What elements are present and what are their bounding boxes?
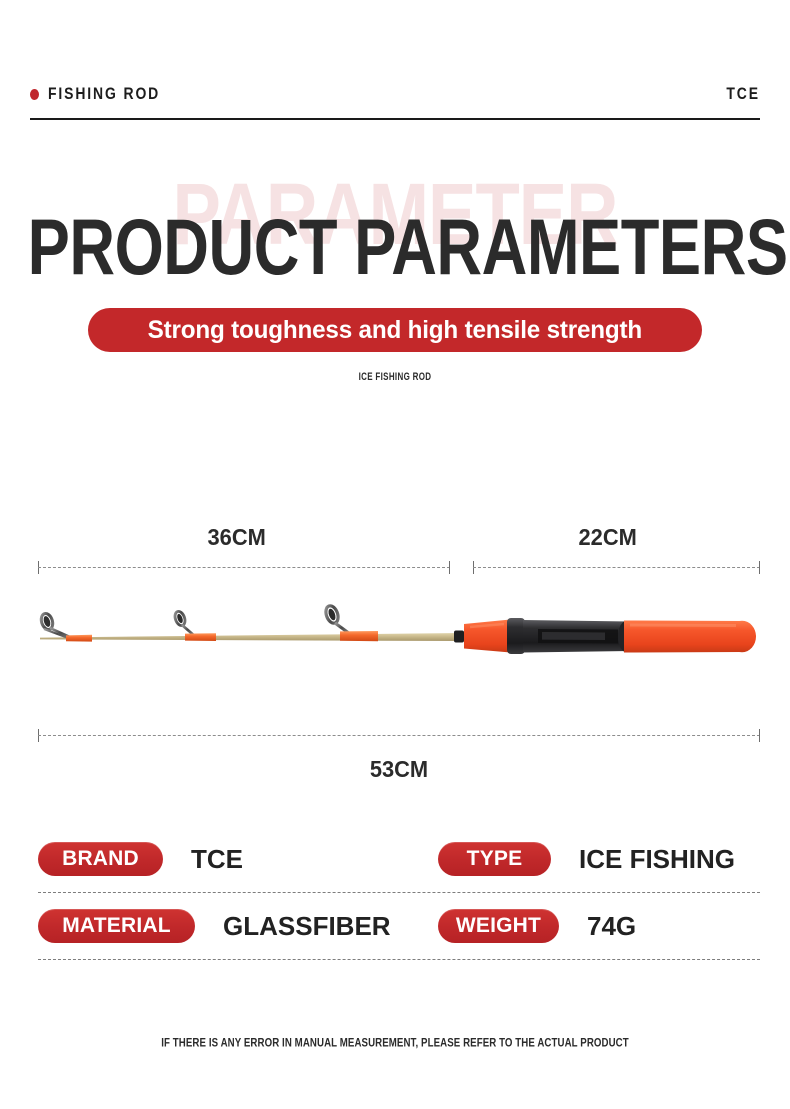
dimension-rule	[38, 735, 760, 736]
dimension-cap-right	[449, 561, 450, 574]
spec-type: TYPE ICE FISHING	[438, 842, 760, 876]
guide-wrap-middle	[185, 633, 216, 641]
rod-ferrule	[454, 631, 464, 643]
blank-length-label: 36CM	[208, 524, 266, 551]
spec-brand: BRAND TCE	[38, 842, 438, 876]
segment-measurements: 36CM 22CM	[38, 524, 760, 574]
spec-value-weight: 74G	[587, 911, 636, 942]
header-left-group: FISHING ROD	[30, 84, 185, 104]
tagline-text: Strong toughness and high tensile streng…	[148, 316, 642, 345]
reel-seat-ring	[507, 618, 525, 654]
header-category-label: FISHING ROD	[48, 84, 160, 104]
dimension-rule	[38, 567, 450, 568]
footer-note: IF THERE IS ANY ERROR IN MANUAL MEASUREM…	[47, 1037, 742, 1050]
tagline-banner: Strong toughness and high tensile streng…	[88, 308, 702, 352]
dimension-cap-right	[759, 561, 760, 574]
handle-length-label: 22CM	[579, 524, 637, 551]
spec-label-brand: BRAND	[38, 842, 163, 876]
rod-guide-butt	[324, 604, 348, 632]
spec-weight: WEIGHT 74G	[438, 909, 760, 943]
fishing-rod-illustration	[30, 596, 765, 664]
spec-divider	[38, 959, 760, 960]
table-row: BRAND TCE TYPE ICE FISHING	[38, 826, 760, 892]
handle-dimension-line	[473, 561, 760, 574]
spec-label-material: MATERIAL	[38, 909, 195, 943]
dimension-rule	[473, 567, 760, 568]
spec-value-material: GLASSFIBER	[223, 911, 391, 942]
header-brand-label: TCE	[726, 84, 760, 104]
spec-value-brand: TCE	[191, 844, 243, 875]
rod-tip-guide	[39, 612, 71, 639]
total-measurement: 53CM	[38, 729, 760, 789]
rod-guide-middle	[173, 610, 193, 635]
table-row: MATERIAL GLASSFIBER WEIGHT 74G	[38, 893, 760, 959]
title-block: PARAMETER PRODUCT PARAMETERS	[0, 160, 790, 300]
subtitle-text: ICE FISHING ROD	[79, 371, 711, 383]
spec-label-weight: WEIGHT	[438, 909, 559, 943]
spec-value-type: ICE FISHING	[579, 844, 735, 875]
page-header: FISHING ROD TCE	[30, 70, 760, 120]
spec-material: MATERIAL GLASSFIBER	[38, 909, 438, 943]
page-title: PRODUCT PARAMETERS	[28, 202, 763, 292]
guide-wrap-butt	[340, 631, 378, 641]
guide-wrap-tip	[66, 635, 92, 642]
spec-label-type: TYPE	[438, 842, 551, 876]
total-dimension-line	[38, 729, 760, 742]
red-dot-icon	[30, 89, 39, 100]
blank-dimension-line	[38, 561, 450, 574]
dimension-cap-right	[759, 729, 760, 742]
total-length-label: 53CM	[56, 756, 742, 783]
spec-table: BRAND TCE TYPE ICE FISHING MATERIAL GLAS…	[38, 826, 760, 960]
rod-blank	[40, 633, 460, 641]
